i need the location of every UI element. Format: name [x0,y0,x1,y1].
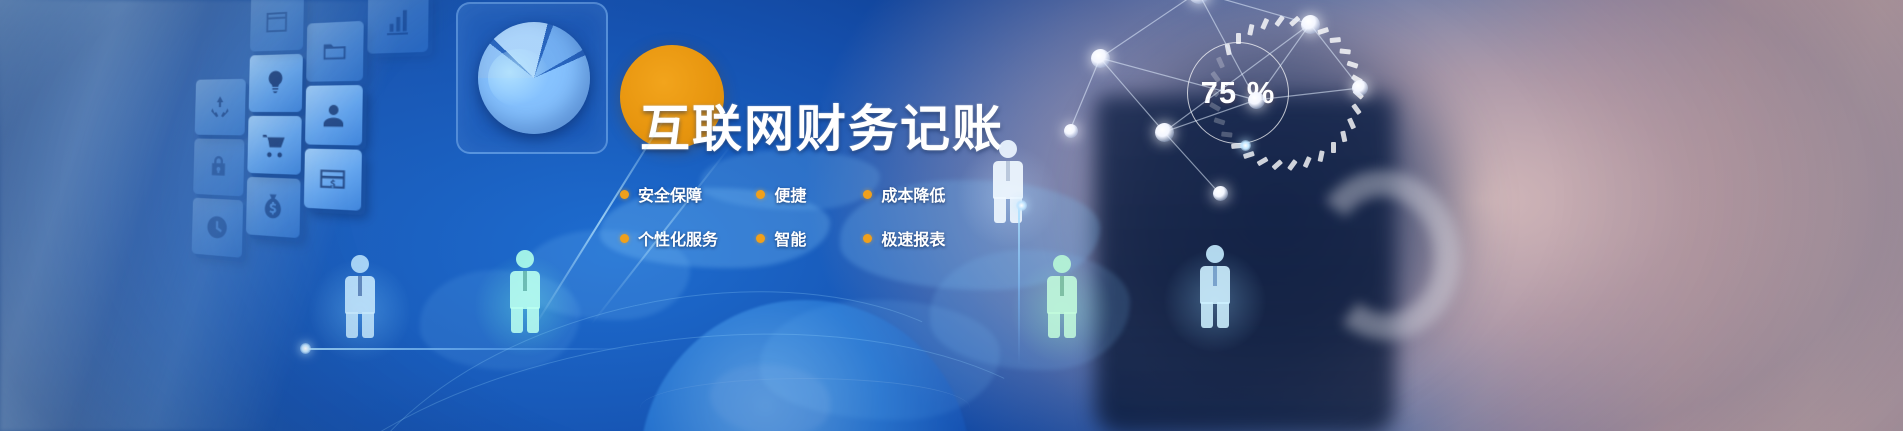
vignette-overlay [0,0,1903,431]
hero-banner: 互联网财务记账 安全保障 便捷 成本降低 个性化服务 智能 [0,0,1903,431]
